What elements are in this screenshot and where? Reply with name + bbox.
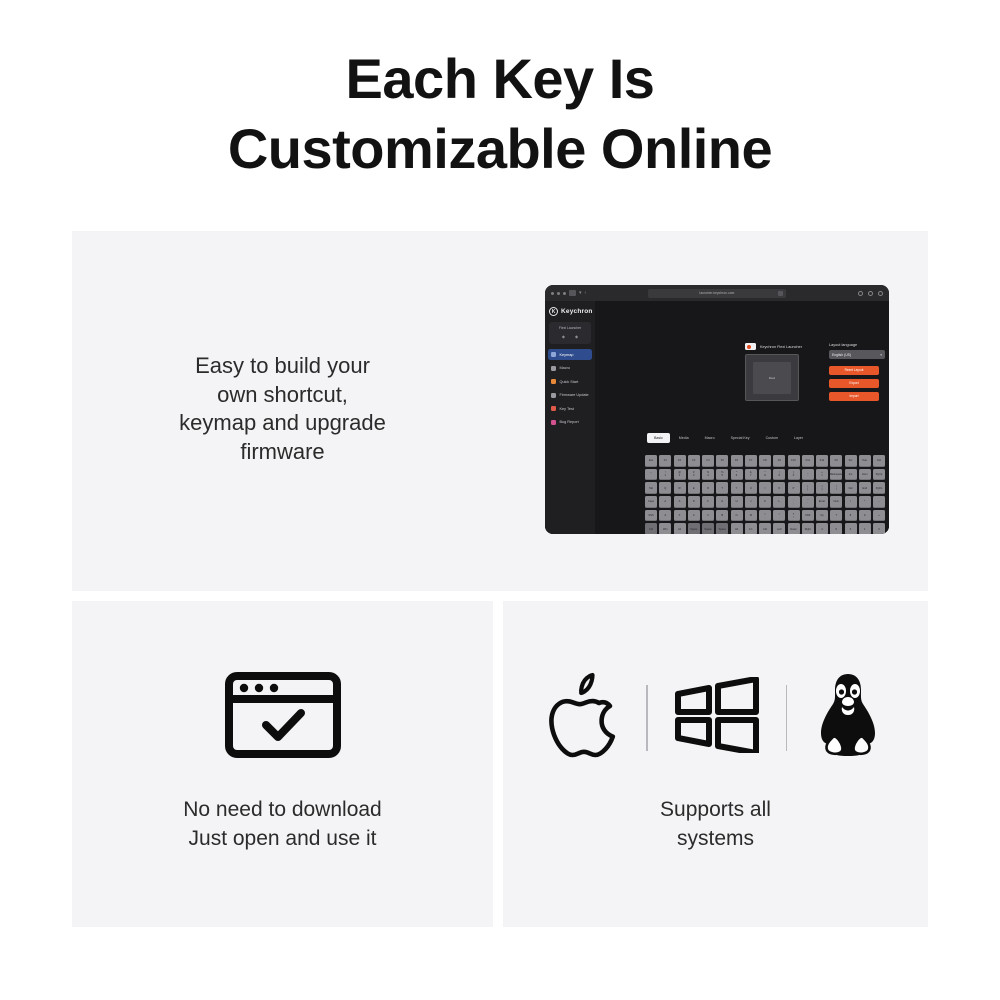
keycode-key[interactable]: Del [873, 455, 885, 467]
keycode-label: R [707, 487, 709, 490]
keycode-key[interactable]: W [674, 482, 686, 494]
tab-special-key[interactable]: Special Key [724, 433, 757, 443]
traffic-light-minimize-icon[interactable] [557, 292, 560, 295]
keycode-key[interactable]: F11 [802, 455, 814, 467]
keycode-label: ! 1 [665, 471, 666, 477]
keycode-label: 0 [878, 528, 879, 531]
keycode-key[interactable]: End [859, 482, 871, 494]
keycode-label: Num [834, 500, 839, 503]
keycode-label: F11 [806, 459, 810, 462]
keycode-key[interactable]: R [702, 482, 714, 494]
keycode-label: F12 [820, 459, 824, 462]
device-image: Flexi [745, 354, 799, 401]
keycode-label: Right [805, 528, 811, 531]
keycode-label: F [707, 500, 709, 503]
keycode-label: Enter [819, 500, 825, 503]
keycode-label: F9 [778, 459, 781, 462]
page-title-line-2: Customizable Online [0, 114, 1000, 184]
keycode-label: 1 [864, 528, 865, 531]
keycode-key[interactable]: G [716, 496, 728, 508]
keycode-label: F7 [749, 459, 752, 462]
sidebar-item-label: Bug Report [560, 420, 579, 424]
keycode-key[interactable]: Fn [745, 523, 757, 534]
keycode-key[interactable]: F [702, 496, 714, 508]
keycode-key[interactable]: F7 [745, 455, 757, 467]
sidebar-item-label: Key Test [560, 407, 575, 411]
sidebar-item-label: Firmware Update [560, 393, 589, 397]
keycode-key[interactable]: 8 [845, 510, 857, 522]
browser-address-bar[interactable]: launcher.keychron.com [648, 289, 786, 298]
windows-icon [674, 677, 760, 758]
sidebar-item-quick-start[interactable]: Quick Start [548, 376, 592, 387]
keycode-label: H [736, 500, 738, 503]
keycode-key[interactable]: 1 [859, 523, 871, 534]
keycode-key[interactable]: ^ 6 [731, 469, 743, 481]
feature-card-bottom-left-copy: No need to download Just open and use it [72, 795, 493, 853]
keycode-key[interactable]: - [873, 496, 885, 508]
layout-language-column: Layout language English (US) ▾ Reset Lay… [829, 343, 889, 405]
keycode-label: Z [664, 514, 666, 517]
keycode-label: Shift [805, 514, 810, 517]
keycode-label: ( 9 [779, 471, 780, 477]
keycode-key[interactable]: M [745, 510, 757, 522]
apple-icon [548, 672, 620, 763]
sidebar-item-key-test[interactable]: Key Test [548, 403, 592, 414]
keycode-label: # 3 [693, 471, 694, 477]
keycode-key[interactable]: U [745, 482, 757, 494]
chevron-down-icon: ▾ [880, 353, 882, 357]
keycode-key[interactable]: Space [688, 523, 700, 534]
keycode-label: F1 [664, 459, 667, 462]
keycode-label: 5 [836, 528, 837, 531]
keycode-key[interactable]: F6 [731, 455, 743, 467]
sidebar-item-macro[interactable]: Macro [548, 363, 592, 374]
reset-layout-label: Reset Layout [845, 368, 864, 372]
tab-label: Macro [705, 436, 715, 440]
keycode-label: End [862, 487, 867, 490]
keycode-key[interactable]: L [773, 496, 785, 508]
keycode-key[interactable]: Del [845, 482, 857, 494]
keycode-key[interactable]: Ctrl [759, 523, 771, 534]
page-title: Each Key Is Customizable Online [0, 44, 1000, 184]
keycode-row: TabQWERTYUIOP{ [} ]| \DelEndPgDn [645, 482, 885, 494]
app-body: K Keychron Flexi Launcher ◆ ◆ Keymap [545, 301, 889, 534]
keycode-key[interactable]: Shift [802, 510, 814, 522]
tab-label: Custom [766, 436, 778, 440]
icon-divider-2 [786, 685, 788, 751]
key-test-icon [551, 406, 556, 411]
keycode-label: E [693, 487, 695, 490]
keycode-label: T [721, 487, 723, 490]
keycode-key[interactable]: F2 [674, 455, 686, 467]
keycode-key[interactable]: + [873, 510, 885, 522]
keycode-label: 4 [821, 528, 822, 531]
keycode-key[interactable]: Esc [645, 455, 657, 467]
keycode-label: * [864, 500, 865, 503]
keycode-key[interactable]: F1 [659, 455, 671, 467]
keycode-key[interactable]: Pau [859, 455, 871, 467]
sidebar-item-keymap[interactable]: Keymap [548, 349, 592, 360]
keycode-label: Pau [862, 459, 867, 462]
keycode-label: I [765, 487, 766, 490]
keycode-label: $ 4 [707, 471, 708, 477]
keycode-key[interactable]: & 7 [745, 469, 757, 481]
device-column: Keychron Flexi Launcher Flexi [745, 343, 817, 405]
keycode-key[interactable]: Space [716, 523, 728, 534]
keycode-label: W [678, 487, 680, 490]
keycode-key[interactable]: ? / [788, 510, 800, 522]
keycode-label: : ; [793, 499, 794, 505]
traffic-light-zoom-icon[interactable] [563, 292, 566, 295]
keycode-label: % 5 [721, 471, 723, 477]
keycode-label: F3 [692, 459, 695, 462]
keycode-key[interactable]: Hom [859, 469, 871, 481]
keycode-key[interactable]: PgUp [873, 469, 885, 481]
duplicate-icon[interactable] [878, 291, 883, 296]
keycode-label: + [878, 514, 880, 517]
keycode-row: CtrlWinAltSpaceSpaceSpaceAltFnCtrlLeftDo… [645, 523, 885, 534]
keycode-label: - [879, 500, 880, 503]
keycode-label: Tab [649, 487, 653, 490]
keycode-key[interactable]: ( 9 [773, 469, 785, 481]
keycode-label: Del [849, 487, 853, 490]
sidebar-toggle-icon[interactable] [569, 290, 576, 296]
chevron-down-icon[interactable]: ▾ [579, 290, 582, 296]
keycode-key[interactable]: ! 1 [659, 469, 671, 481]
keycode-key[interactable]: Y [731, 482, 743, 494]
feature-card-top-copy: Easy to build your own shortcut, keymap … [100, 352, 465, 466]
tab-label: Layer [794, 436, 803, 440]
keycode-key[interactable]: V [702, 510, 714, 522]
keycode-label: F8 [764, 459, 767, 462]
keycode-key[interactable]: F5 [716, 455, 728, 467]
keycode-label: Left [777, 528, 781, 531]
keycode-key[interactable]: 0 [873, 523, 885, 534]
brand-logo: K Keychron [545, 304, 595, 320]
keycode-label: PgUp [876, 473, 883, 476]
keycode-key[interactable]: D [688, 496, 700, 508]
keycode-key[interactable]: % 5 [716, 469, 728, 481]
sidebar-item-bug-report[interactable]: Bug Report [548, 417, 592, 428]
keycode-label: & 7 [750, 471, 752, 477]
keycode-row: ~ `! 1@ 2# 3$ 4% 5^ 6& 7* 8( 9) 0_ -+ =B… [645, 469, 885, 481]
keycode-label: Del [877, 459, 881, 462]
keycode-label: Space [704, 528, 711, 531]
keycode-key[interactable]: Ctrl [645, 523, 657, 534]
usb-icon[interactable]: ◆ [575, 334, 578, 339]
keycode-key[interactable]: E [688, 482, 700, 494]
keycode-label: 8 [850, 514, 851, 517]
keycode-row: ShiftZXCVBNM< ,> .? /ShiftUp789+ [645, 510, 885, 522]
sidebar-item-label: Quick Start [560, 380, 579, 384]
device-header: Keychron Flexi Launcher [745, 343, 817, 350]
keycode-label: + = [821, 471, 823, 477]
keycode-key[interactable]: T [716, 482, 728, 494]
keycode-key[interactable]: C [688, 510, 700, 522]
keycode-key[interactable]: S [674, 496, 686, 508]
keycode-key[interactable]: F12 [816, 455, 828, 467]
plus-icon[interactable] [868, 291, 873, 296]
keycode-key[interactable]: ) 0 [788, 469, 800, 481]
feature-card-bottom-left [72, 601, 493, 927]
keycode-key[interactable]: Shift [645, 510, 657, 522]
keycode-label: Win [663, 528, 667, 531]
brand-name: Keychron [561, 308, 593, 315]
keycode-key[interactable]: _ - [802, 469, 814, 481]
keycode-label: F5 [721, 459, 724, 462]
keycode-key[interactable]: ~ ` [645, 469, 657, 481]
keycode-key[interactable]: + = [816, 469, 828, 481]
icon-divider-1 [646, 685, 648, 751]
keycode-label: L [779, 500, 780, 503]
keycode-key[interactable]: O [773, 482, 785, 494]
keycode-key[interactable]: F8 [759, 455, 771, 467]
keycode-label: Ins [849, 473, 852, 476]
keycode-key[interactable]: } ] [816, 482, 828, 494]
layout-language-label: Layout language [829, 343, 889, 347]
keycode-label: PgDn [876, 487, 883, 490]
bl-copy-line-2: Just open and use it [72, 824, 493, 853]
keycode-key[interactable]: @ 2 [674, 469, 686, 481]
keycode-key[interactable]: Down [788, 523, 800, 534]
keycode-key[interactable]: 9 [859, 510, 871, 522]
rocket-icon [551, 379, 556, 384]
keycode-key[interactable]: F10 [788, 455, 800, 467]
keycode-key[interactable]: " ' [802, 496, 814, 508]
bluetooth-icon[interactable]: ◆ [562, 334, 565, 339]
keycode-key[interactable]: * 8 [759, 469, 771, 481]
keycode-key[interactable]: Alt [731, 523, 743, 534]
keycode-label: Alt [735, 528, 738, 531]
keycode-key[interactable]: 4 [816, 523, 828, 534]
keycode-label: Hom [862, 473, 867, 476]
flexi-launcher-panel: Flexi Launcher ◆ ◆ [549, 322, 591, 344]
top-copy-line-2: own shortcut, [100, 381, 465, 410]
keycode-label: N [736, 514, 738, 517]
chevron-left-icon[interactable]: ‹ [585, 290, 587, 296]
keycode-label: Q [664, 487, 666, 490]
keycode-key[interactable]: Backspace [830, 469, 842, 481]
device-image-inner: Flexi [753, 362, 791, 394]
keycode-label: V [707, 514, 709, 517]
keycode-label: Esc [649, 459, 653, 462]
keycode-key[interactable]: Space [702, 523, 714, 534]
keycode-label: G [721, 500, 723, 503]
keycode-row: CapsASDFGHJKL: ;" 'EnterNum/*- [645, 496, 885, 508]
export-button[interactable]: Export [829, 379, 879, 388]
keycode-label: Space [690, 528, 697, 531]
keycode-key[interactable]: Win [659, 523, 671, 534]
keycode-key[interactable]: A [659, 496, 671, 508]
keycode-key[interactable]: J [745, 496, 757, 508]
keycode-label: Prt [835, 459, 838, 462]
keycode-label: F2 [678, 459, 681, 462]
tab-media[interactable]: Media [672, 433, 696, 443]
keycode-key[interactable]: Tab [645, 482, 657, 494]
promo-page: Each Key Is Customizable Online Easy to … [0, 0, 1000, 1000]
flexi-connection-icons: ◆ ◆ [551, 334, 589, 339]
tab-label: Media [679, 436, 689, 440]
keycode-label: Fn [749, 528, 752, 531]
keycode-key[interactable]: Alt [674, 523, 686, 534]
device-chip-icon [745, 343, 756, 350]
keycode-label: Backspace [830, 473, 843, 476]
browser-chrome: ▾ ‹ launcher.keychron.com [545, 285, 889, 301]
keycode-label: C [693, 514, 695, 517]
keycode-label: Up [820, 514, 823, 517]
export-label: Export [849, 381, 858, 385]
keycode-label: S [679, 500, 681, 503]
keycode-row: EscF1F2F3F4F5F6F7F8F9F10F11F12PrtScrPauD… [645, 455, 885, 467]
layout-language-value: English (US) [832, 353, 851, 357]
keycode-label: < , [764, 513, 766, 519]
keycode-label: 7 [836, 514, 837, 517]
tab-custom[interactable]: Custom [759, 433, 785, 443]
keycode-label: F10 [791, 459, 795, 462]
traffic-light-close-icon[interactable] [551, 292, 554, 295]
keycode-label: | \ [836, 485, 837, 491]
device-image-label: Flexi [769, 376, 775, 380]
bug-icon [551, 420, 556, 425]
keycode-key[interactable]: P [788, 482, 800, 494]
keycode-label: Shift [648, 514, 653, 517]
tab-label: Basic [654, 436, 663, 440]
keycode-label: Ctrl [649, 528, 653, 531]
keycode-label: U [750, 487, 752, 490]
flexi-launcher-title: Flexi Launcher [551, 326, 589, 330]
keycode-label: { [ [807, 485, 808, 491]
sidebar-nav: Keymap Macro Quick Start Firmware Update [545, 349, 595, 428]
keycode-label: Y [736, 487, 738, 490]
address-bar-url: launcher.keychron.com [700, 291, 735, 295]
keycode-label: > . [779, 513, 781, 519]
keycode-key[interactable]: Prt [830, 455, 842, 467]
keycode-key[interactable]: 6 [845, 523, 857, 534]
keycode-key[interactable]: : ; [788, 496, 800, 508]
tab-macro[interactable]: Macro [698, 433, 722, 443]
keycode-key[interactable]: Left [773, 523, 785, 534]
browser-window-controls: ▾ ‹ [551, 290, 586, 296]
layout-language-select[interactable]: English (US) ▾ [829, 350, 885, 359]
tab-basic[interactable]: Basic [647, 433, 670, 443]
keycode-key[interactable]: $ 4 [702, 469, 714, 481]
chip-icon [551, 393, 556, 398]
keycode-key[interactable]: Q [659, 482, 671, 494]
keycode-label: F6 [735, 459, 738, 462]
keycode-label: Alt [678, 528, 681, 531]
device-panel: Keychron Flexi Launcher Flexi Layout lan… [745, 343, 889, 405]
keycode-label: " ' [807, 499, 808, 505]
keycode-key[interactable]: Ins [845, 469, 857, 481]
keycode-label: Scr [849, 459, 853, 462]
keycode-key[interactable]: K [759, 496, 771, 508]
keycode-label: M [750, 514, 752, 517]
keycode-key[interactable]: { [ [802, 482, 814, 494]
keycode-label: F4 [707, 459, 710, 462]
keychron-logo-icon: K [549, 307, 558, 316]
launcher-app-window: ▾ ‹ launcher.keychron.com K Keychron [545, 285, 889, 534]
keycode-key[interactable]: | \ [830, 482, 842, 494]
macro-icon [551, 366, 556, 371]
keycode-label: K [764, 500, 766, 503]
keycode-key[interactable]: B [716, 510, 728, 522]
sidebar-item-label: Keymap [560, 353, 574, 357]
keycode-key[interactable]: Num [830, 496, 842, 508]
sidebar-item-label: Macro [560, 366, 571, 370]
keycode-label: Ctrl [763, 528, 767, 531]
keycode-key[interactable]: Z [659, 510, 671, 522]
extension-icon[interactable] [778, 291, 783, 296]
keycode-key[interactable]: F3 [688, 455, 700, 467]
keycode-key[interactable]: / [845, 496, 857, 508]
keycode-label: J [750, 500, 751, 503]
tab-layer[interactable]: Layer [787, 433, 810, 443]
page-title-line-1: Each Key Is [0, 44, 1000, 114]
sidebar-item-firmware-update[interactable]: Firmware Update [548, 390, 592, 401]
keycode-key[interactable]: F9 [773, 455, 785, 467]
keycode-key[interactable]: Up [816, 510, 828, 522]
keycode-key[interactable]: Right [802, 523, 814, 534]
keycode-label: O [778, 487, 780, 490]
keycode-label: D [693, 500, 695, 503]
feature-card-bottom-right-copy: Supports all systems [503, 795, 928, 853]
os-support-icons [503, 660, 928, 775]
browser-check-icon [225, 672, 341, 763]
keycode-key[interactable]: X [674, 510, 686, 522]
keycode-key[interactable]: 5 [830, 523, 842, 534]
keymap-icon [551, 352, 556, 357]
keycode-key[interactable]: F4 [702, 455, 714, 467]
keycode-key[interactable]: 7 [830, 510, 842, 522]
import-button[interactable]: Import [829, 392, 879, 401]
keycode-key[interactable]: # 3 [688, 469, 700, 481]
keycode-key[interactable]: N [731, 510, 743, 522]
keycode-label: A [664, 500, 666, 503]
keycode-key[interactable]: Caps [645, 496, 657, 508]
keycode-key[interactable]: > . [773, 510, 785, 522]
keycode-key[interactable]: I [759, 482, 771, 494]
app-main: Keychron Flexi Launcher Flexi Layout lan… [595, 301, 889, 534]
keycode-label: ^ 6 [736, 471, 737, 477]
br-copy-line-1: Supports all [503, 795, 928, 824]
keycode-key[interactable]: Scr [845, 455, 857, 467]
browser-toolbar-right [858, 291, 883, 296]
keycode-label: 9 [864, 514, 865, 517]
keycode-tabs: Basic Media Macro Special Key Custom Lay… [647, 433, 810, 443]
reset-layout-button[interactable]: Reset Layout [829, 366, 879, 375]
keycode-label: @ 2 [678, 471, 681, 477]
top-copy-line-1: Easy to build your [100, 352, 465, 381]
keycode-key[interactable]: H [731, 496, 743, 508]
keycode-label: / [850, 500, 851, 503]
linux-icon [813, 671, 883, 764]
device-title: Keychron Flexi Launcher [760, 345, 802, 349]
keycode-label: * 8 [764, 471, 765, 477]
keycode-key[interactable]: * [859, 496, 871, 508]
keycode-label: X [679, 514, 681, 517]
keycode-label: Down [790, 528, 797, 531]
bl-copy-line-1: No need to download [72, 795, 493, 824]
keycode-label: P [793, 487, 795, 490]
import-label: Import [849, 394, 858, 398]
keycode-label: _ - [807, 471, 808, 477]
keycode-label: 6 [850, 528, 851, 531]
share-icon[interactable] [858, 291, 863, 296]
keycode-key[interactable]: < , [759, 510, 771, 522]
keycode-key[interactable]: Enter [816, 496, 828, 508]
keycode-grid: EscF1F2F3F4F5F6F7F8F9F10F11F12PrtScrPauD… [645, 455, 885, 534]
keycode-key[interactable]: PgDn [873, 482, 885, 494]
